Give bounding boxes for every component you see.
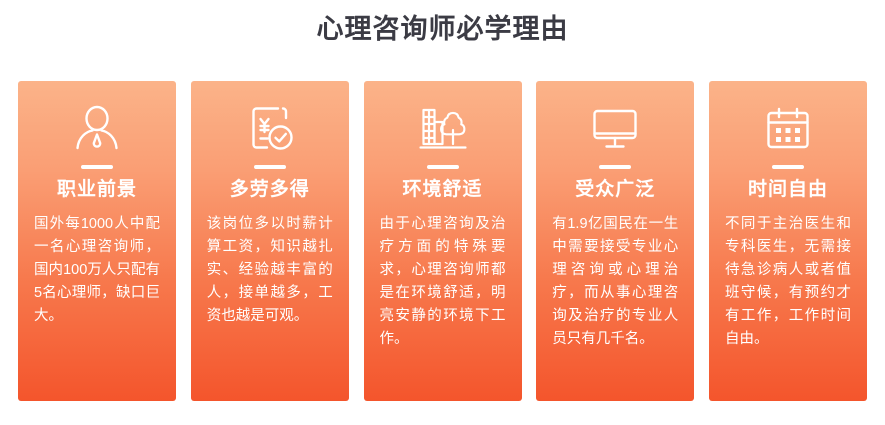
title-divider [772, 165, 804, 169]
monitor-icon [580, 97, 650, 159]
person-icon [62, 97, 132, 159]
title-divider [81, 165, 113, 169]
card-title: 时间自由 [748, 178, 828, 202]
card-body: 由于心理咨询及治疗方面的特殊要求，心理咨询师都是在环境舒适，明亮安静的环境下工作… [380, 213, 506, 351]
card-title: 环境舒适 [402, 178, 482, 202]
card-pay-per-effort: 多劳多得 该岗位多以时薪计算工资，知识越扎实、经验越丰富的人，接单越多，工资也越… [191, 81, 349, 401]
title-divider [599, 165, 631, 169]
card-title: 职业前景 [57, 178, 137, 202]
card-body: 不同于主治医生和专科医生，无需接待急诊病人或者值班守候，有预约才有工作，工作时间… [725, 213, 851, 351]
card-career-prospects: 职业前景 国外每1000人中配一名心理咨询师，国内100万人只配有5名心理师，缺… [18, 81, 176, 401]
card-body: 该岗位多以时薪计算工资，知识越扎实、经验越丰富的人，接单越多，工资也越是可观。 [207, 213, 333, 328]
card-list: 职业前景 国外每1000人中配一名心理咨询师，国内100万人只配有5名心理师，缺… [18, 81, 867, 401]
calendar-icon [753, 97, 823, 159]
building-tree-icon [408, 97, 478, 159]
card-title: 多劳多得 [230, 178, 310, 202]
card-flexible-schedule: 时间自由 不同于主治医生和专科医生，无需接待急诊病人或者值班守候，有预约才有工作… [709, 81, 867, 401]
invoice-check-icon [235, 97, 305, 159]
card-wide-audience: 受众广泛 有1.9亿国民在一生中需要接受专业心理咨询或心理治疗，而从事心理咨询及… [536, 81, 694, 401]
page-title: 心理咨询师必学理由 [0, 12, 885, 46]
title-divider [254, 165, 286, 169]
title-divider [427, 165, 459, 169]
card-body: 有1.9亿国民在一生中需要接受专业心理咨询或心理治疗，而从事心理咨询及治疗的专业… [552, 213, 678, 351]
card-body: 国外每1000人中配一名心理咨询师，国内100万人只配有5名心理师，缺口巨大。 [34, 213, 160, 328]
infographic-page: 心理咨询师必学理由 职业前景 国外每1000人中配一名心理咨询师，国内100万人… [0, 0, 885, 425]
card-comfortable-environment: 环境舒适 由于心理咨询及治疗方面的特殊要求，心理咨询师都是在环境舒适，明亮安静的… [364, 81, 522, 401]
card-title: 受众广泛 [575, 178, 655, 202]
